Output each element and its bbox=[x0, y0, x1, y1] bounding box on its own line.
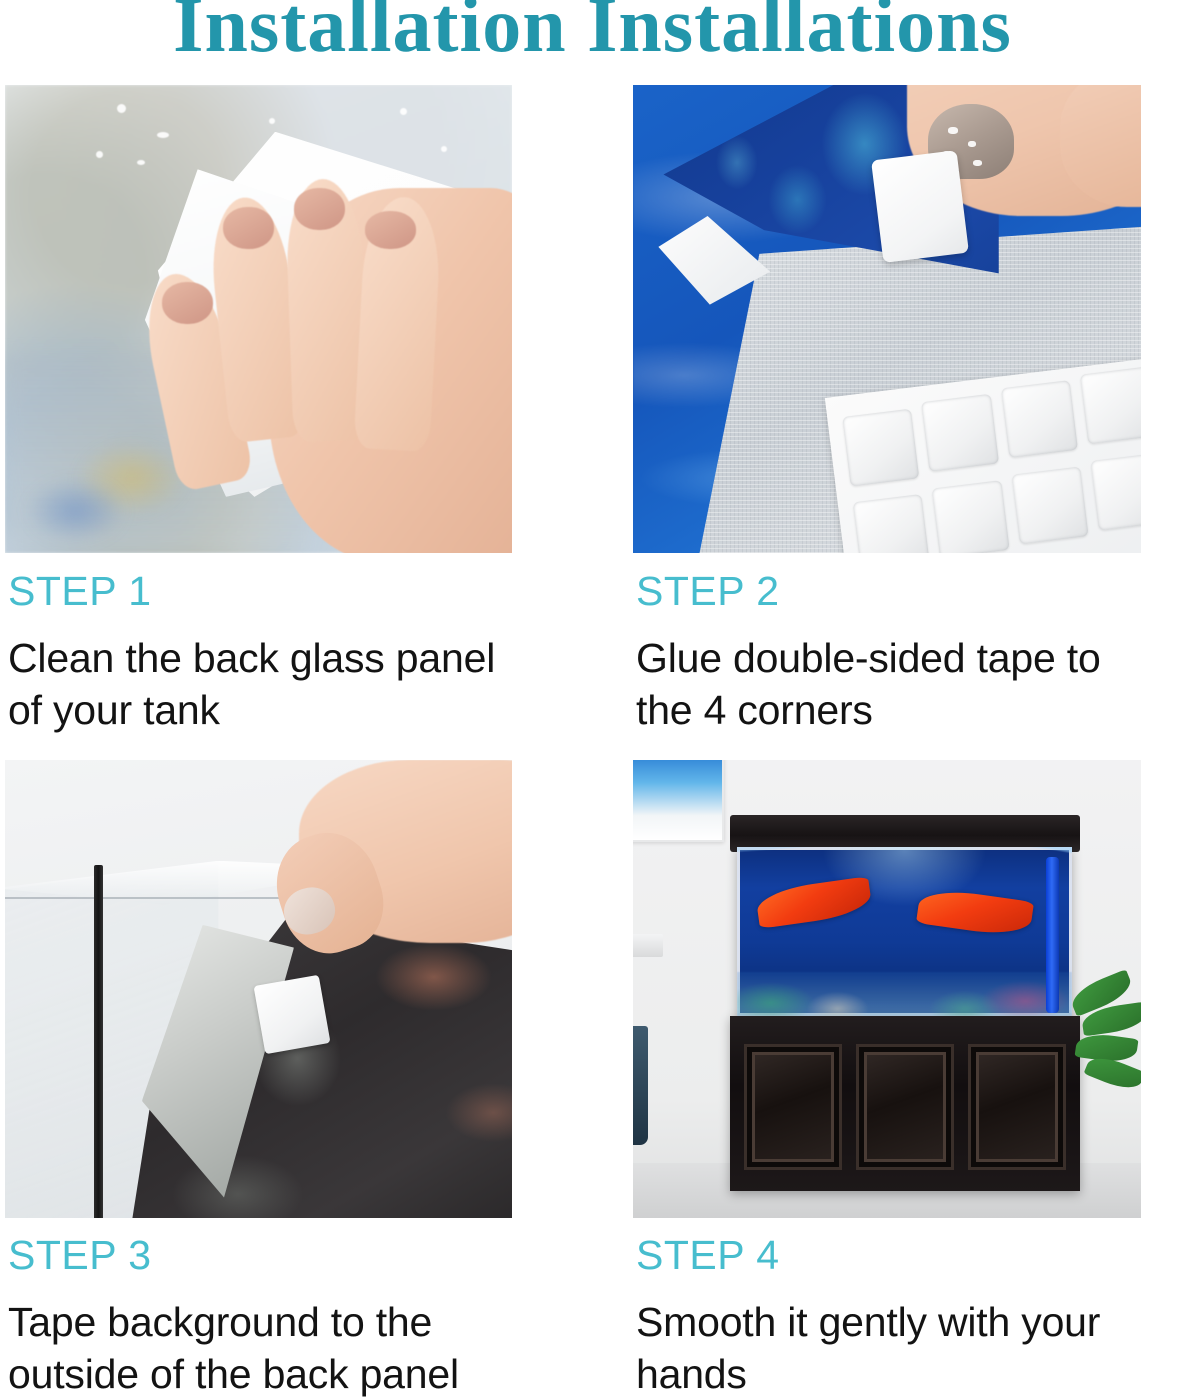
step-2-text: Glue double-sided tape to the 4 corners bbox=[636, 632, 1156, 737]
step-2-image bbox=[633, 85, 1141, 553]
step-3-text: Tape background to the outside of the ba… bbox=[8, 1296, 528, 1398]
page-title: Installation Installations bbox=[0, 0, 1185, 66]
installation-instructions-infographic: Installation Installations STEP 1 Clean … bbox=[0, 0, 1185, 1398]
step-3-image bbox=[5, 760, 512, 1218]
step-1-label: STEP 1 bbox=[8, 568, 152, 615]
step-4-image bbox=[633, 760, 1141, 1218]
step-1-image bbox=[5, 85, 512, 553]
step-4-label: STEP 4 bbox=[636, 1232, 780, 1279]
step-4-text: Smooth it gently with your hands bbox=[636, 1296, 1156, 1398]
step-2-label: STEP 2 bbox=[636, 568, 780, 615]
step-3-label: STEP 3 bbox=[8, 1232, 152, 1279]
step-1-text: Clean the back glass panel of your tank bbox=[8, 632, 528, 737]
